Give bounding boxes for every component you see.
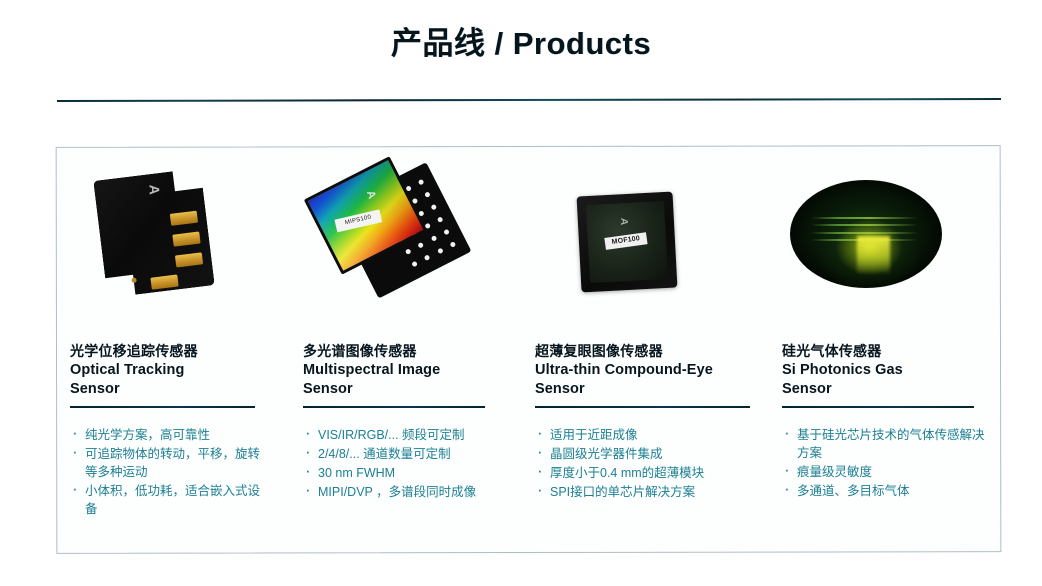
product-title-divider	[535, 406, 750, 408]
product-image-si-photonics-gas	[782, 146, 993, 342]
product-title-divider	[70, 406, 255, 408]
list-item: MIPI/DVP ，多谱段同时成像	[303, 483, 490, 501]
product-title-cn: 多光谱图像传感器	[303, 342, 515, 361]
product-title-cn: 硅光气体传感器	[782, 342, 993, 361]
product-title-divider	[782, 406, 974, 408]
product-image-optical-tracking: A	[70, 146, 284, 342]
product-card-multispectral[interactable]: A MIPS100 多光谱图像传感器 Multispectral Image S…	[292, 146, 523, 553]
list-item: 纯光学方案，高可靠性	[70, 426, 261, 444]
product-feature-list: 基于硅光芯片技术的气体传感解决方案 痕量级灵敏度 多通道、多目标气体	[782, 426, 993, 500]
product-title-en-line1: Ultra-thin Compound-Eye	[535, 361, 761, 380]
product-title-en-line2: Sensor	[782, 380, 993, 399]
list-item: 痕量级灵敏度	[782, 463, 987, 481]
product-title-en-line1: Si Photonics Gas	[782, 361, 993, 380]
optical-tracking-sensor-chip-icon: A	[93, 168, 215, 298]
waveguide-line	[811, 232, 917, 234]
list-item: 适用于近距成像	[535, 426, 761, 444]
product-title-en-line1: Multispectral Image	[303, 361, 515, 380]
products-grid: A 光学位移追踪传感器 Optical Tracking Sensor 纯光学方…	[56, 146, 1001, 553]
list-item: 厚度小于0.4 mm的超薄模块	[535, 464, 761, 482]
chip-logo-mark: A	[618, 218, 629, 226]
product-image-multispectral: A MIPS100	[303, 146, 515, 342]
product-title-en-line2: Sensor	[535, 380, 761, 399]
product-image-compound-eye: A MOF100	[535, 146, 761, 342]
product-title-cn: 光学位移追踪传感器	[70, 342, 284, 361]
product-feature-list: 纯光学方案，高可靠性 可追踪物体的转动，平移，旋转等多种运动 小体积，低功耗，适…	[70, 426, 284, 518]
page-title: 产品线 / Products	[0, 18, 1042, 63]
title-divider	[57, 98, 1001, 102]
list-item: 30 nm FWHM	[303, 464, 490, 482]
waveguide-line	[811, 217, 917, 219]
product-card-compound-eye[interactable]: A MOF100 超薄复眼图像传感器 Ultra-thin Compound-E…	[523, 146, 769, 553]
list-item: 多通道、多目标气体	[782, 482, 987, 500]
product-card-si-photonics-gas[interactable]: 硅光气体传感器 Si Photonics Gas Sensor 基于硅光芯片技术…	[769, 146, 1001, 553]
list-item: 基于硅光芯片技术的气体传感解决方案	[782, 426, 987, 462]
photonic-emission-glow	[857, 236, 890, 273]
product-title-cn: 超薄复眼图像传感器	[535, 342, 761, 361]
product-title-en-line2: Sensor	[70, 380, 284, 399]
list-item: 2/4/8/... 通道数量可定制	[303, 445, 490, 463]
multispectral-image-sensor-chip-icon: A MIPS100	[304, 142, 474, 311]
list-item: VIS/IR/RGB/... 频段可定制	[303, 426, 490, 444]
list-item: 可追踪物体的转动，平移，旋转等多种运动	[70, 445, 261, 481]
product-feature-list: 适用于近距成像 晶圆级光学器件集成 厚度小于0.4 mm的超薄模块 SPI接口的…	[535, 426, 761, 501]
product-card-optical-tracking[interactable]: A 光学位移追踪传感器 Optical Tracking Sensor 纯光学方…	[56, 146, 292, 553]
list-item: SPI接口的单芯片解决方案	[535, 483, 761, 501]
product-title-en-line2: Sensor	[303, 380, 515, 399]
product-title-divider	[303, 406, 485, 408]
product-feature-list: VIS/IR/RGB/... 频段可定制 2/4/8/... 通道数量可定制 3…	[303, 426, 515, 501]
waveguide-line	[811, 224, 917, 226]
product-title-en-line1: Optical Tracking	[70, 361, 284, 380]
chip-logo-mark: A	[144, 184, 164, 210]
si-photonics-gas-sensor-micrograph-icon	[790, 180, 942, 288]
ultra-thin-compound-eye-sensor-module-icon: A MOF100	[577, 192, 678, 293]
list-item: 晶圆级光学器件集成	[535, 445, 761, 463]
list-item: 小体积，低功耗，适合嵌入式设备	[70, 482, 261, 518]
